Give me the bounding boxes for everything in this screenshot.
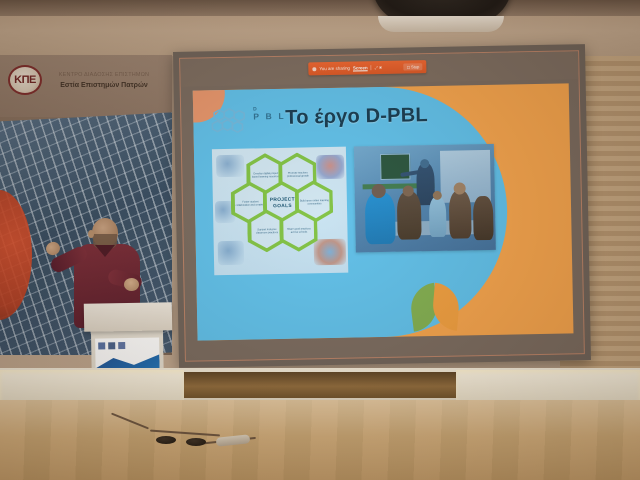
- project-goals-diagram: Develop digital project based learning r…: [212, 147, 348, 276]
- goal-label: Build open online learning communities: [298, 197, 331, 206]
- photo-student: [429, 197, 447, 237]
- sprout-leaf-icon: [411, 283, 464, 334]
- photo-student: [473, 196, 494, 240]
- presentation-room-photo: ΚΠΕ ΚΕΝΤΡΟ ΔΙΑΔΟΣΗΣ ΕΠΙΣΤΗΜΩΝ Εστία Επισ…: [0, 0, 640, 480]
- kpe-logo-icon: ΚΠΕ: [8, 65, 42, 95]
- leaf-right: [431, 283, 461, 331]
- stage-riser-recess: [180, 372, 460, 398]
- ceiling-soffit: [0, 0, 640, 16]
- podium-top-surface: [84, 302, 172, 332]
- stage-riser-panel: [0, 370, 184, 404]
- banner-header: ΚΠΕ ΚΕΝΤΡΟ ΔΙΑΔΟΣΗΣ ΕΠΙΣΤΗΜΩΝ Εστία Επισ…: [0, 55, 172, 117]
- banner-org-line1: ΚΕΝΤΡΟ ΔΙΑΔΟΣΗΣ ΕΠΙΣΤΗΜΩΝ: [38, 72, 170, 78]
- projection-screen-surface: You are sharing Screen ⤢ ▣ ◻ Stop: [179, 50, 585, 362]
- presenter-ear: [88, 230, 94, 238]
- photo-student: [365, 192, 396, 245]
- slide-title: Το έργο D-PBL: [285, 104, 428, 130]
- floor-light-reflection: [0, 400, 640, 480]
- stage-riser-panel: [456, 370, 640, 404]
- goal-label: Promote teachers professional growth: [281, 170, 314, 179]
- share-app-label: Screen: [353, 65, 368, 70]
- stop-share-button[interactable]: ◻ Stop: [404, 63, 423, 70]
- presentation-slide: D P B L Το έργο D-PBL Develop digital pr…: [193, 83, 574, 340]
- floor-speaker-puck: [186, 438, 206, 446]
- photo-teacher-head: [420, 159, 429, 168]
- dpbl-hexagon-logo-icon: [209, 106, 256, 137]
- recording-dot-icon: [312, 67, 316, 71]
- projection-screen: You are sharing Screen ⤢ ▣ ◻ Stop: [173, 44, 591, 368]
- ceiling-speaker-rim: [378, 16, 504, 32]
- floor-speaker-puck: [156, 436, 176, 444]
- photo-student: [449, 190, 472, 238]
- classroom-photo: [354, 144, 496, 253]
- poster-logo-icon: [118, 342, 125, 349]
- logo-letters-pbl: P B L: [253, 112, 286, 122]
- goal-label: Share good practices across schools: [282, 226, 315, 235]
- poster-logo-icon: [108, 342, 115, 349]
- goal-label: Support inclusive classroom practices: [250, 226, 283, 235]
- project-goals-label: PROJECT GOALS: [266, 195, 299, 210]
- banner-logo-text: ΚΠΕ: [14, 74, 36, 86]
- banner-org-line2: Εστία Επιστημών Πατρών: [38, 82, 170, 89]
- zoom-share-bar[interactable]: You are sharing Screen ⤢ ▣ ◻ Stop: [308, 60, 426, 75]
- presenter-right-hand: [124, 278, 139, 291]
- share-controls-icons[interactable]: ⤢ ▣: [371, 65, 382, 70]
- dpbl-logo-wordmark: D P B L: [253, 107, 286, 122]
- goal-label: Foster student collaboration and creativ…: [234, 199, 267, 208]
- poster-logo-icon: [98, 342, 105, 349]
- goal-label: Develop digital project based learning r…: [249, 170, 282, 179]
- photo-student: [397, 191, 422, 239]
- poster-logo-row: [98, 341, 156, 351]
- share-prefix-label: You are sharing: [319, 66, 350, 72]
